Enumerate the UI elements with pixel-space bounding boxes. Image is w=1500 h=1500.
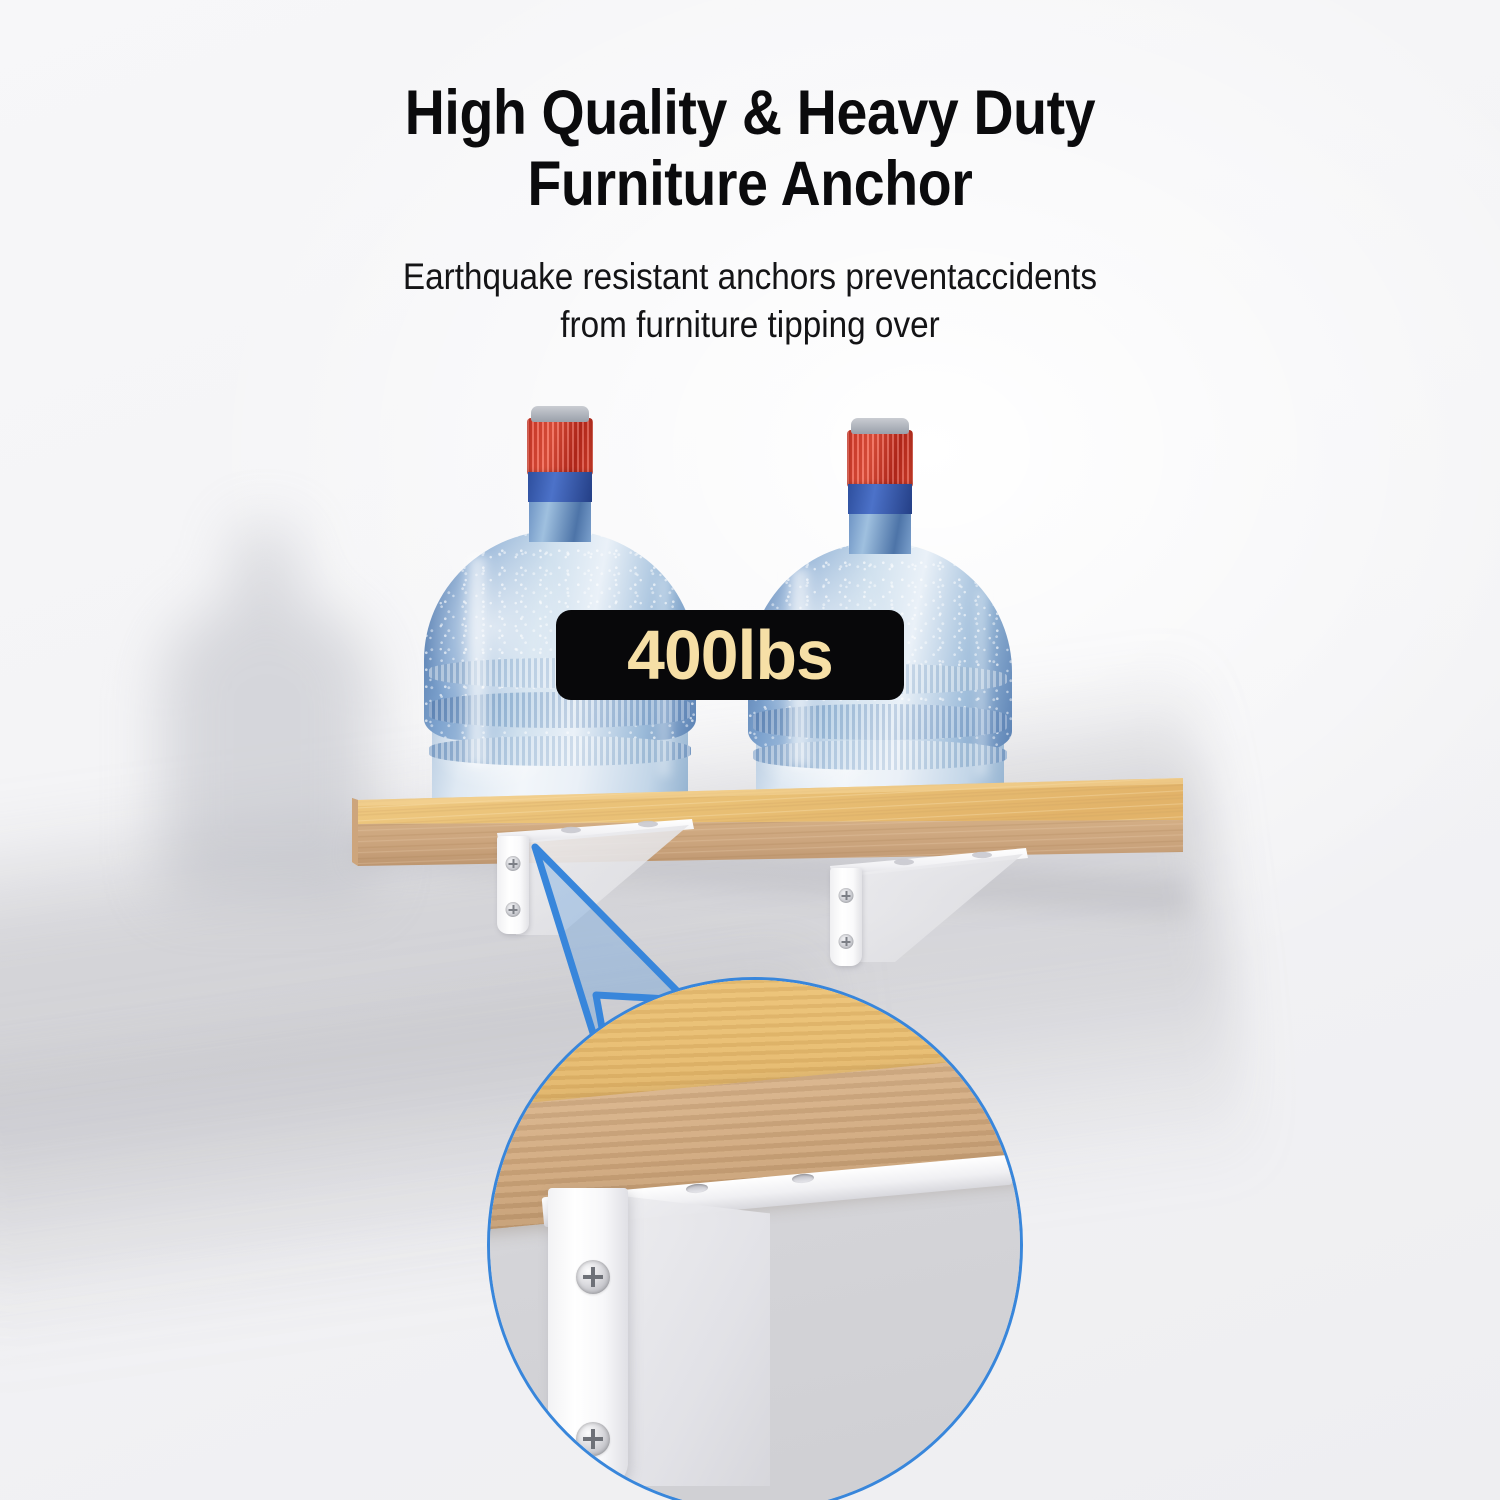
- bracket-screw-lower: [839, 934, 854, 949]
- weight-capacity-badge: 400lbs: [556, 610, 904, 700]
- page-title: High Quality & Heavy Duty Furniture Anch…: [90, 78, 1410, 220]
- jug-neck: [529, 496, 591, 542]
- bracket-leg-face: [830, 868, 862, 966]
- bracket-screw-upper: [506, 856, 521, 871]
- page-subtitle: Earthquake resistant anchors preventacci…: [75, 253, 1425, 349]
- magnified-bracket-screw-upper: [576, 1260, 610, 1294]
- magnified-bracket-gusset: [622, 1196, 770, 1486]
- shadow-neck: [238, 527, 294, 637]
- magnified-bracket-screw-lower: [576, 1422, 610, 1456]
- jug-wall-shadow: [152, 505, 382, 895]
- bracket-screw-lower: [506, 902, 521, 917]
- jug-highlight-right: [972, 588, 990, 776]
- product-image-stage: High Quality & Heavy Duty Furniture Anch…: [0, 0, 1500, 1500]
- shadow-body: [162, 605, 372, 895]
- l-bracket-right-vertical-leg: [830, 868, 862, 966]
- water-jug-left: [424, 406, 696, 806]
- jug-neck: [849, 508, 911, 554]
- jug-cap-top: [851, 418, 909, 434]
- bracket-screw-upper: [839, 888, 854, 903]
- jug-cap-seal: [847, 430, 913, 488]
- l-bracket-left-vertical-leg: [497, 836, 529, 934]
- weight-capacity-label: 400lbs: [627, 620, 833, 690]
- jug-highlight: [462, 556, 492, 766]
- jug-cap-seal: [527, 418, 593, 476]
- magnifier-circle: [487, 977, 1023, 1500]
- bracket-leg-face: [497, 836, 529, 934]
- jug-cap-label-band: [528, 472, 592, 502]
- jug-cap-top: [531, 406, 589, 422]
- jug-cap-label-band: [848, 484, 912, 514]
